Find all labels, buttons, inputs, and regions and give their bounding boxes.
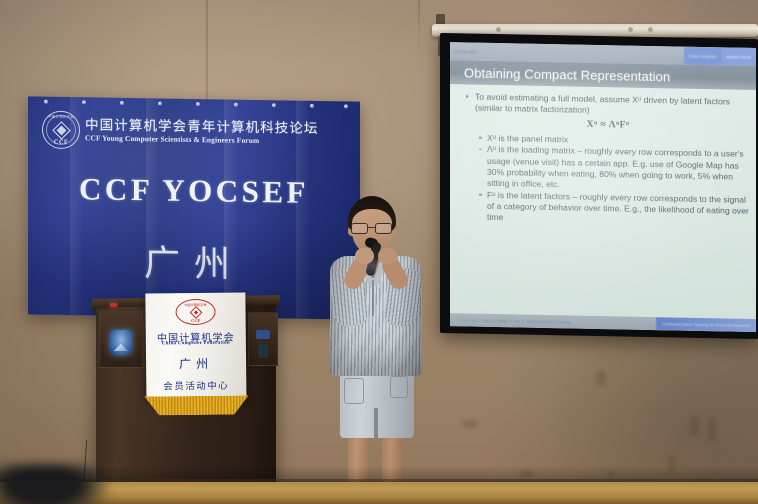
glasses-bridge <box>368 227 375 228</box>
logo-acronym: CCF <box>43 138 79 146</box>
wall-scuff-mark <box>690 415 699 437</box>
slide-sub-bullet-text: Xᵘ is the panel matrix <box>487 132 568 144</box>
pennant-cloth: 中国计算机学会 CCF 中国计算机学会 China Computer Feder… <box>145 292 246 399</box>
presenter-shirt-placket <box>372 280 374 316</box>
banner-grommet <box>234 103 238 107</box>
wall-scuff-mark <box>708 418 716 442</box>
seal-diamond-mark <box>189 306 202 319</box>
slide-nav-tab-model-form: Model Form <box>722 47 756 66</box>
presenter-right-hand <box>378 248 397 264</box>
lectern-control-screen <box>110 330 132 355</box>
glasses-left-lens <box>351 223 368 234</box>
presenter-figure <box>310 196 446 504</box>
banner-header-text: 中国计算机学会青年计算机科技论坛 CCF Young Computer Scie… <box>85 118 319 147</box>
banner-header-block: 中国计算机学会 CCF 中国计算机学会青年计算机科技论坛 CCF Young C… <box>42 111 348 154</box>
lectern-control-knob <box>258 344 268 358</box>
banner-grommet <box>44 100 48 104</box>
slide-nav-tab-np3-model: NP3 Model <box>450 49 479 55</box>
roller-stain <box>648 27 653 32</box>
slide-bullet-primary: To avoid estimating a full model, assume… <box>466 91 750 119</box>
slide-formula: Xᵘ ≈ ΛᵘFᵘ <box>466 117 750 134</box>
banner-grommet <box>310 104 314 108</box>
banner-grommet <box>120 101 124 105</box>
wall-scuff-mark <box>596 370 606 386</box>
ccf-pennant: 中国计算机学会 CCF 中国计算机学会 China Computer Feder… <box>145 292 246 416</box>
ccf-seal-logo-icon: 中国计算机学会 CCF <box>175 299 215 325</box>
presenter-left-hand <box>355 248 374 264</box>
dash-bullet-icon <box>479 149 482 150</box>
wall-scuff-mark <box>462 420 478 428</box>
ccf-logo-icon: 中国计算机学会 CCF <box>42 111 80 150</box>
slide-footer: Y. Sun, N. J. Yuan, Y. Wang, X. Xie, K. … <box>450 313 756 332</box>
slide-title: Obtaining Compact Representation <box>450 65 670 84</box>
slide-body: To avoid estimating a full model, assume… <box>450 84 756 312</box>
dash-bullet-icon <box>479 137 482 138</box>
slide-sub-bullet-text: Fᵘ is the latent factors – roughly every… <box>487 189 749 222</box>
presenter-shorts-pocket <box>390 376 408 398</box>
slide-sub-bullet-list: Xᵘ is the panel matrix Λᵘ is the loading… <box>479 132 750 228</box>
slide-sub-bullet: Fᵘ is the latent factors – roughly every… <box>479 189 750 228</box>
seal-acronym: CCF <box>177 318 215 323</box>
lecture-hall-photo: NP3 Model Data Analysis Model Form Obtai… <box>0 0 758 504</box>
lectern-control-knob <box>256 330 270 339</box>
foreground-silhouette <box>0 464 110 504</box>
wall-panel-seam <box>418 0 420 60</box>
presenter-shorts-pocket <box>344 378 364 404</box>
slide-sub-bullet: Λᵘ is the loading matrix – roughly every… <box>479 144 750 194</box>
slide-nav-spacer <box>479 52 684 56</box>
banner-grommet <box>158 101 162 105</box>
triangle-bullet-icon <box>466 95 469 99</box>
slide-footer-authors: Y. Sun, N. J. Yuan, Y. Wang, X. Xie, K. … <box>450 317 570 324</box>
presenter-shorts-seam <box>374 408 378 438</box>
pennant-city: 广州 <box>146 354 246 372</box>
slide-footer-paper-title: Contextual Intent Tracking for Personal … <box>656 317 756 332</box>
dash-bullet-icon <box>479 194 482 195</box>
glasses-right-lens <box>375 223 392 234</box>
banner-grommet <box>272 103 276 107</box>
slide-nav-tab-data-analysis: Data Analysis <box>684 47 722 66</box>
slide-bullet-text: To avoid estimating a full model, assume… <box>475 92 730 115</box>
pennant-gold-fringe <box>144 395 248 415</box>
lectern-power-led <box>110 303 117 307</box>
slide-sub-bullet-text: Λᵘ is the loading matrix – roughly every… <box>487 144 744 189</box>
wooden-baseboard <box>0 482 758 504</box>
pennant-line-cn-3: 会员活动中心 <box>146 377 246 392</box>
roller-stain <box>496 27 501 32</box>
roller-stain <box>628 27 633 32</box>
banner-grommet <box>82 100 86 104</box>
presentation-slide: NP3 Model Data Analysis Model Form Obtai… <box>450 42 756 332</box>
banner-grommet <box>344 104 348 108</box>
banner-grommet <box>196 102 200 106</box>
eyeglasses-icon <box>350 223 394 234</box>
projection-screen: NP3 Model Data Analysis Model Form Obtai… <box>440 33 758 339</box>
pennant-line-en-1: China Computer Federation <box>146 340 246 346</box>
